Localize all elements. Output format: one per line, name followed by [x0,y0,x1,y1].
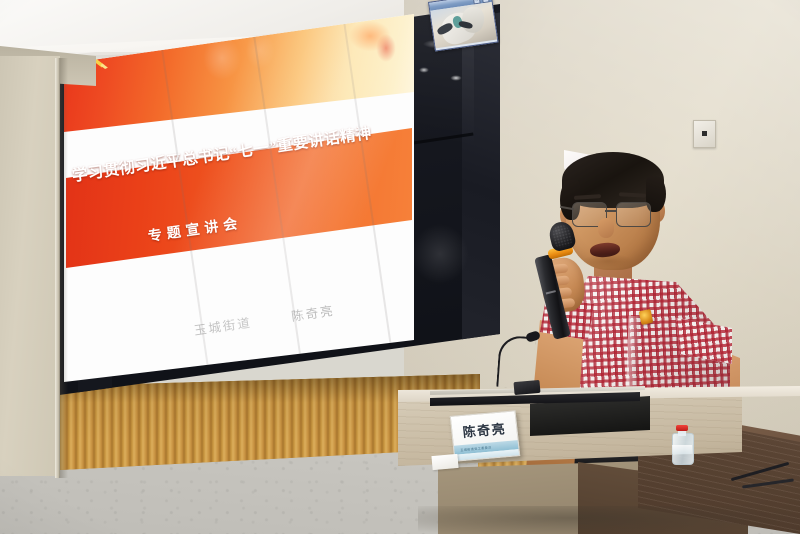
video-window-feed [430,2,497,48]
slide-footer-gap [257,322,287,326]
screenshot-root: 学习贯彻习近平总书记“七一”重要讲话精神 专题宣讲会 玉城街道 陈奇亮 □ × [0,0,800,534]
presenter-chin-shadow [582,254,634,268]
handheld-microphone[interactable] [540,222,580,342]
left-column-shadow [59,58,68,478]
water-bottle[interactable] [672,425,692,463]
name-plate-text: 陈奇亮 [455,416,513,443]
gooseneck-microphone-base[interactable] [513,380,540,395]
presenter-nose [598,218,614,238]
video-wall-glass-reflection [410,14,474,340]
eyeglasses-lens-right [616,202,651,227]
presentation-slide[interactable]: 学习贯彻习近平总书记“七一”重要讲话精神 专题宣讲会 玉城街道 陈奇亮 [64,14,414,382]
water-bottle-cap [676,425,688,431]
slide-footer: 玉城街道 陈奇亮 [193,300,336,339]
slide-footer-speaker: 陈奇亮 [290,304,335,324]
water-bottle-label [672,445,692,454]
name-plate: 陈奇亮 玉城街道党工委委员 [450,410,521,462]
video-feed-figure-2 [460,5,485,34]
wall-outlet-hole [702,131,707,136]
video-call-inset-window[interactable]: □ × [428,0,498,51]
desk-paper-card [431,454,458,470]
left-wall-column [0,56,60,476]
eyeglasses-bridge [605,210,616,212]
microphone-body [534,254,571,340]
party-lapel-pin [639,309,654,325]
lectern-floor-shadow [418,506,798,534]
wall-outlet-plate [693,120,716,148]
